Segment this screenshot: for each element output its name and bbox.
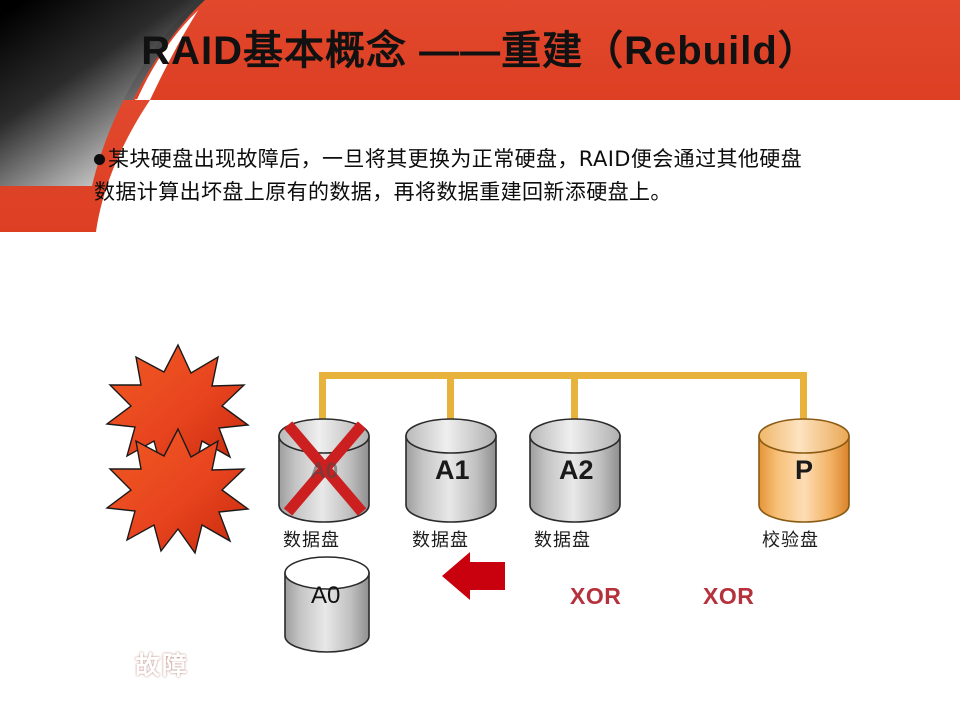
body-paragraph: 某块硬盘出现故障后，一旦将其更换为正常硬盘，RAID便会通过其他硬盘 数据计算出… (94, 143, 924, 209)
body-line-1: 某块硬盘出现故障后，一旦将其更换为正常硬盘，RAID便会通过其他硬盘 (108, 147, 802, 171)
disk-2-letter: A1 (435, 455, 470, 486)
bus-horizontal (322, 372, 806, 379)
rebuild-arrow-icon (442, 552, 505, 600)
disk-4-caption: 校验盘 (762, 526, 819, 552)
rebuild-target-label: A0 (311, 582, 340, 610)
bullet-dot-icon (94, 154, 105, 165)
disk-1-caption: 数据盘 (283, 526, 340, 552)
slide-canvas: RAID基本概念 ——重建（Rebuild） 某块硬盘出现故障后，一旦将其更换为… (0, 0, 960, 720)
disk-1-letter: A0 (310, 458, 338, 484)
xor-label-1: XOR (570, 583, 621, 610)
disk-2-caption: 数据盘 (412, 526, 469, 552)
disk-3-caption: 数据盘 (534, 526, 591, 552)
xor-label-2: XOR (703, 583, 754, 610)
disk-3-letter: A2 (559, 455, 594, 486)
disk-4-letter: P (795, 455, 813, 486)
page-title: RAID基本概念 ——重建（Rebuild） (0, 20, 960, 82)
body-line-2: 数据计算出坏盘上原有的数据，再将数据重建回新添硬盘上。 (94, 176, 924, 209)
raid-rebuild-diagram: A0 XOR XOR 故障 更换 A0 A1 A2 P 数据盘 数据盘 数据盘 … (0, 268, 960, 720)
starburst-failure-label: 故障 (135, 646, 189, 682)
